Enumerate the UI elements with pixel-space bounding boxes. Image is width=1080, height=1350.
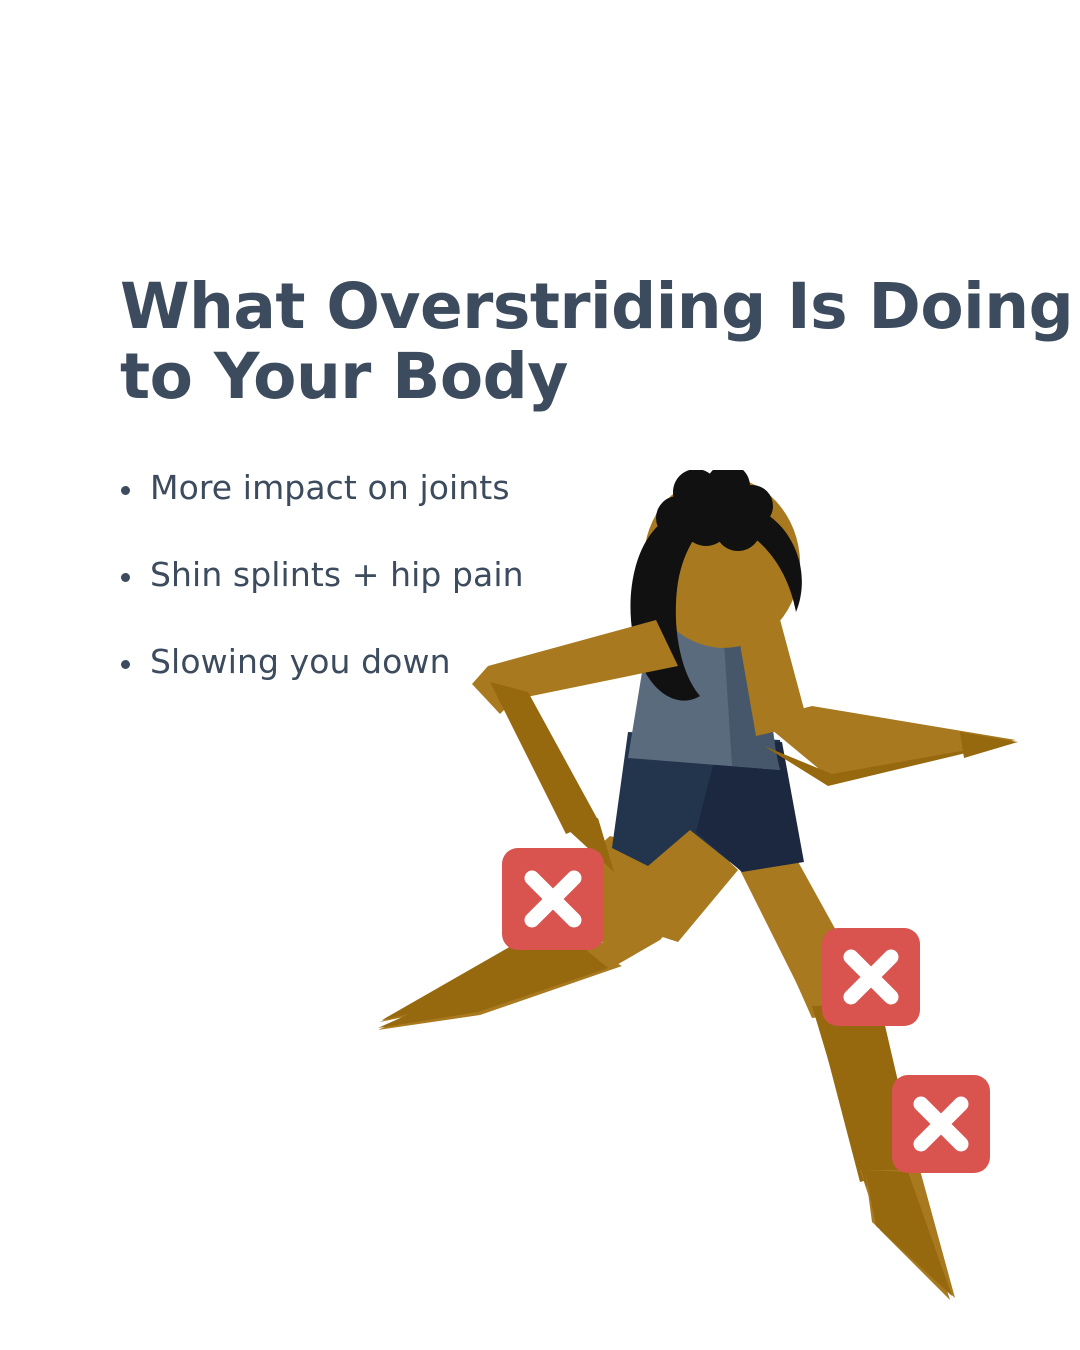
- runner-illustration: [360, 470, 1020, 1300]
- page-title: What Overstriding Is Doing to Your Body: [120, 272, 950, 412]
- bullet-dot-icon: [121, 486, 130, 495]
- x-badge-rear-arm[interactable]: [502, 848, 604, 950]
- front-leg-final: [732, 838, 955, 1298]
- bullet-dot-icon: [121, 573, 130, 582]
- page-title-line-2: to Your Body: [120, 342, 950, 412]
- bullet-dot-icon: [121, 660, 130, 669]
- page-title-line-1: What Overstriding Is Doing: [120, 272, 950, 342]
- hair-bun: [656, 470, 773, 551]
- runner-figure: [360, 470, 1020, 1300]
- x-badge-front-foot[interactable]: [892, 1075, 990, 1173]
- poster-canvas: What Overstriding Is Doing to Your Body …: [0, 0, 1080, 1350]
- x-badge-front-knee[interactable]: [822, 928, 920, 1026]
